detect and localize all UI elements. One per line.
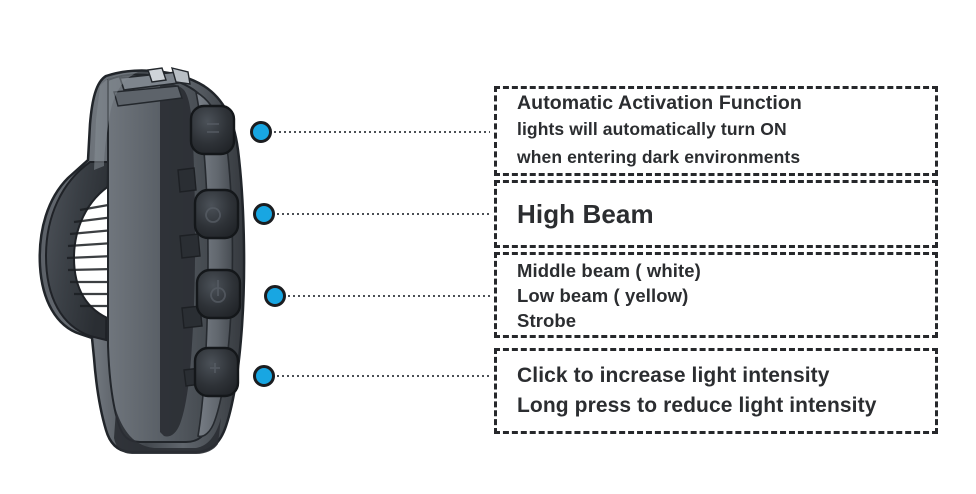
box-4-line-1: Click to increase light intensity bbox=[517, 361, 917, 391]
infographic-canvas: Automatic Activation Function lights wil… bbox=[0, 0, 976, 494]
callout-dot-4[interactable] bbox=[253, 365, 275, 387]
leader-line-4 bbox=[277, 374, 490, 377]
info-box-automatic-activation-function: Automatic Activation Function lights wil… bbox=[494, 86, 938, 176]
box-4-line-2: Long press to reduce light intensity bbox=[517, 391, 917, 421]
leader-line-2 bbox=[277, 212, 490, 215]
callout-dot-1[interactable] bbox=[250, 121, 272, 143]
button-high-beam[interactable] bbox=[195, 190, 238, 238]
callout-dot-2[interactable] bbox=[253, 203, 275, 225]
product-illustration bbox=[28, 58, 278, 458]
box-1-line-3: when entering dark environments bbox=[517, 142, 917, 172]
box-3-line-1: Middle beam ( white) bbox=[517, 258, 917, 283]
callout-dot-3[interactable] bbox=[264, 285, 286, 307]
info-box-light-intensity-control: Click to increase light intensity Long p… bbox=[494, 348, 938, 434]
box-2-line-1: High Beam bbox=[517, 198, 917, 230]
button-intensity[interactable] bbox=[195, 348, 238, 396]
box-1-line-2: lights will automatically turn ON bbox=[517, 116, 917, 142]
flashlight-svg bbox=[28, 58, 278, 458]
leader-line-1 bbox=[274, 130, 490, 133]
button-auto-activation[interactable] bbox=[191, 106, 234, 154]
box-3-line-2: Low beam ( yellow) bbox=[517, 283, 917, 308]
info-box-high-beam: High Beam bbox=[494, 180, 938, 248]
info-box-beam-modes: Middle beam ( white) Low beam ( yellow) … bbox=[494, 252, 938, 338]
box-1-line-1: Automatic Activation Function bbox=[517, 91, 917, 116]
leader-line-3 bbox=[288, 294, 490, 297]
box-3-line-3: Strobe bbox=[517, 308, 917, 333]
